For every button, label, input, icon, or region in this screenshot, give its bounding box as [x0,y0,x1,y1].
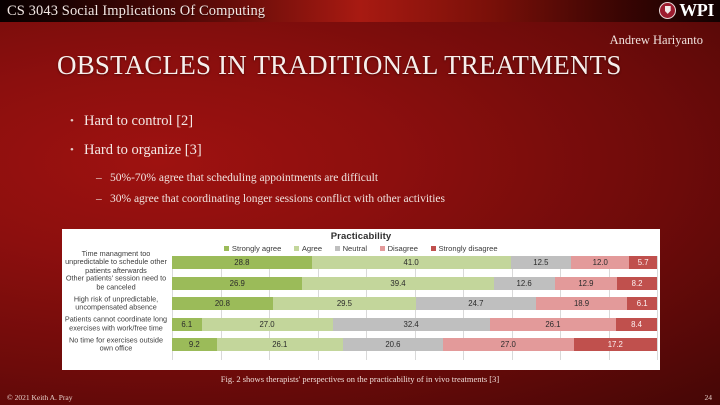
chart-bar-segment: 6.1 [172,318,202,331]
chart-bar-segment: 27.0 [202,318,333,331]
slide-canvas: CS 3043 Social Implications Of Computing… [0,0,720,405]
chart-plot-area: 28.841.012.512.05.726.939.412.612.98.220… [172,256,657,360]
legend-label: Neutral [343,244,367,253]
figure-caption: Fig. 2 shows therapists' perspectives on… [0,374,720,384]
chart-category-label: High risk of unpredictable, uncompensate… [62,295,170,312]
chart-bar-segment: 6.1 [627,297,657,310]
chart-category-label: Time managment too unpredictable to sche… [62,250,170,276]
chart-bar-segment: 18.9 [536,297,628,310]
footer-page-number: 24 [705,393,713,402]
chart-title: Practicability [62,229,660,242]
legend-item[interactable]: Strongly disagree [431,244,498,253]
sub-bullet-marker-icon: – [96,191,110,207]
chart-gridline [657,256,658,360]
chart-panel: Practicability Strongly agreeAgreeNeutra… [62,229,660,370]
chart-bar-row: 26.939.412.612.98.2 [172,277,657,290]
chart-bar-segment: 20.8 [172,297,273,310]
chart-bar-segment: 12.0 [571,256,629,269]
legend-item[interactable]: Neutral [335,244,367,253]
chart-rows: 28.841.012.512.05.726.939.412.612.98.220… [172,256,657,360]
wpi-logo-text: WPI [679,1,714,19]
bullet-text: Hard to organize [3] [84,141,202,160]
chart-bar-segment: 12.5 [511,256,572,269]
legend-swatch-icon [431,246,436,251]
chart-bar-segment: 12.9 [555,277,618,290]
chart-bar-segment: 8.4 [616,318,657,331]
chart-bar-segment: 29.5 [273,297,416,310]
bullet-text: Hard to control [2] [84,112,193,131]
chart-bar-row: 28.841.012.512.05.7 [172,256,657,269]
chart-bar-row: 9.226.120.627.017.2 [172,338,657,351]
chart-bar-segment: 32.4 [333,318,490,331]
chart-bar-segment: 17.2 [574,338,657,351]
wpi-logo: WPI [659,1,714,19]
legend-item[interactable]: Disagree [380,244,418,253]
chart-bar-segment: 39.4 [302,277,493,290]
legend-label: Strongly disagree [438,244,497,253]
wpi-seal-icon [659,2,676,19]
header-band: CS 3043 Social Implications Of Computing… [0,0,720,22]
legend-swatch-icon [335,246,340,251]
bullet-list: •Hard to control [2]•Hard to organize [3… [70,112,650,212]
chart-bar-segment: 41.0 [312,256,511,269]
chart-bar-segment: 20.6 [343,338,443,351]
legend-label: Strongly agree [232,244,281,253]
legend-label: Disagree [388,244,418,253]
legend-swatch-icon [380,246,385,251]
bullet-text: 50%-70% agree that scheduling appointmen… [110,170,378,186]
legend-item[interactable]: Agree [294,244,322,253]
chart-bar-row: 6.127.032.426.18.4 [172,318,657,331]
bullet-item: –30% agree that coordinating longer sess… [96,191,650,207]
bullet-item: •Hard to organize [3] [70,141,650,160]
bullet-marker-icon: • [70,141,84,160]
bullet-item: •Hard to control [2] [70,112,650,131]
legend-label: Agree [302,244,322,253]
chart-bar-segment: 5.7 [629,256,657,269]
chart-bar-segment: 9.2 [172,338,217,351]
chart-bar-segment: 8.2 [617,277,657,290]
legend-swatch-icon [294,246,299,251]
chart-bar-segment: 12.6 [494,277,555,290]
chart-bar-segment: 28.8 [172,256,312,269]
bullet-marker-icon: • [70,112,84,131]
chart-category-label: Other patients' session need to be cance… [62,275,170,292]
chart-bar-row: 20.829.524.718.96.1 [172,297,657,310]
chart-bar-segment: 27.0 [443,338,574,351]
bullet-item: –50%-70% agree that scheduling appointme… [96,170,650,186]
chart-bar-segment: 24.7 [416,297,536,310]
legend-swatch-icon [224,246,229,251]
page-title: OBSTACLES IN TRADITIONAL TREATMENTS [57,50,622,81]
author-name: Andrew Hariyanto [610,33,703,48]
bullet-text: 30% agree that coordinating longer sessi… [110,191,445,207]
chart-bar-segment: 26.9 [172,277,302,290]
course-title: CS 3043 Social Implications Of Computing [0,3,265,20]
chart-bar-segment: 26.1 [217,338,343,351]
legend-item[interactable]: Strongly agree [224,244,281,253]
sub-bullet-marker-icon: – [96,170,110,186]
chart-category-label: Patients cannot coordinate long exercise… [62,316,170,333]
chart-category-label: No time for exercises outside own office [62,336,170,353]
footer-copyright: © 2021 Keith A. Pray [7,393,73,402]
chart-bar-segment: 26.1 [490,318,617,331]
